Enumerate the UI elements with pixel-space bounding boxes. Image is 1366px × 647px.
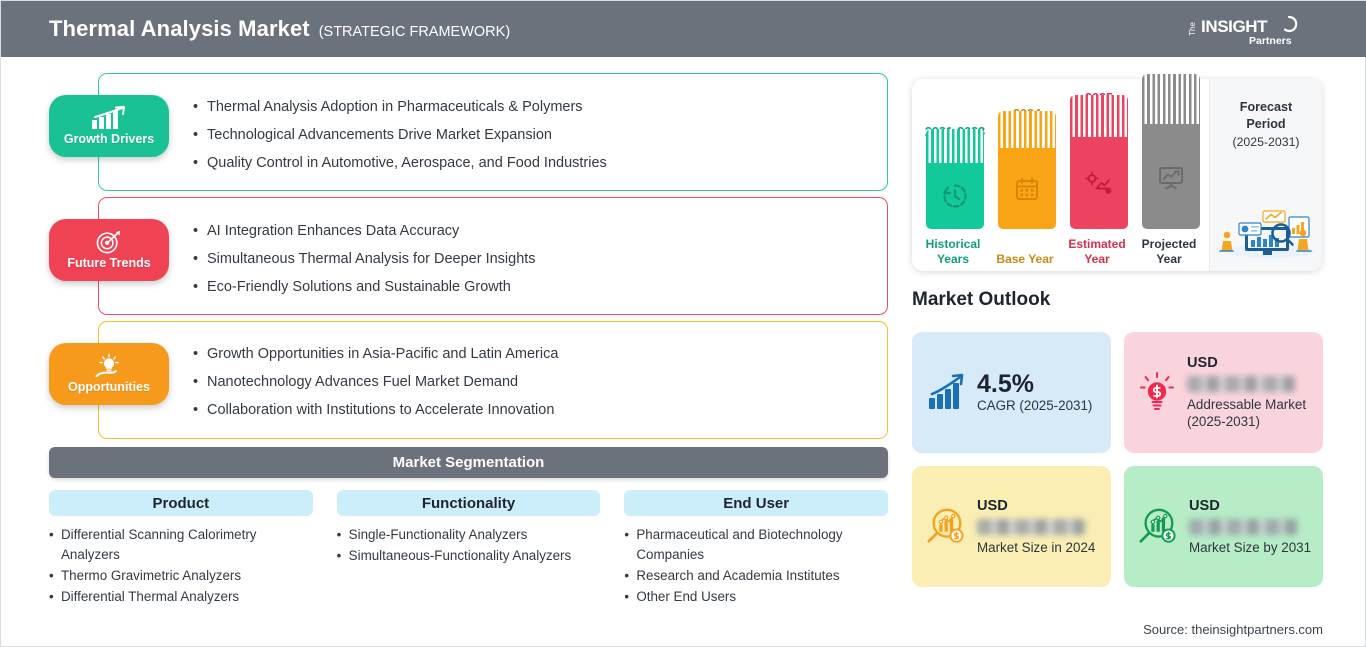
card-caption: Market Size in 2024 bbox=[977, 539, 1101, 556]
list-item: Research and Academia Institutes bbox=[624, 566, 888, 586]
timeline-bar-projected: 2031 Projected Year bbox=[1140, 79, 1202, 271]
badge-opportunities[interactable]: Opportunities bbox=[49, 343, 169, 405]
bullet-item: Eco-Friendly Solutions and Sustainable G… bbox=[193, 273, 883, 301]
bar-stripe-top bbox=[1070, 95, 1128, 137]
presentation-chart-icon bbox=[1157, 164, 1185, 190]
list-item: Simultaneous-Functionality Analyzers bbox=[337, 546, 601, 566]
bar-solid-body bbox=[998, 148, 1056, 229]
list-item: Differential Thermal Analyzers bbox=[49, 587, 313, 607]
timeline-bar-estimated: 2025 bbox=[1068, 79, 1130, 271]
card-caption: Market Size by 2031 bbox=[1189, 539, 1313, 556]
cagr-caption: CAGR (2025-2031) bbox=[977, 397, 1101, 414]
infographic-page: Thermal Analysis Market (STRATEGIC FRAME… bbox=[0, 0, 1366, 647]
redacted-value bbox=[977, 519, 1085, 535]
insight-partners-logo: The INSIGHT Partners bbox=[1189, 10, 1309, 50]
page-subtitle: (STRATEGIC FRAMEWORK) bbox=[319, 24, 510, 40]
badge-future-trends[interactable]: Future Trends bbox=[49, 219, 169, 281]
segment-list: Differential Scanning Calorimetry Analyz… bbox=[49, 525, 313, 607]
forecast-line-2: Period bbox=[1246, 116, 1285, 133]
forecast-line-1: Forecast bbox=[1240, 99, 1293, 116]
bullet-item: Simultaneous Thermal Analysis for Deeper… bbox=[193, 245, 883, 273]
outlook-cards: 4.5% CAGR (2025-2031) USD bbox=[912, 332, 1324, 587]
bar-stripe-top bbox=[926, 129, 984, 163]
segmentation-columns: Product Differential Scanning Calorimetr… bbox=[49, 490, 888, 645]
list-item: Differential Scanning Calorimetry Analyz… bbox=[49, 525, 313, 565]
lightbulb-dollar-icon bbox=[1137, 371, 1177, 415]
bar-caption: Estimated Year bbox=[1062, 237, 1132, 267]
study-year-timeline-chart: 2021-2023 Historical Years bbox=[912, 79, 1322, 271]
redacted-value bbox=[1189, 519, 1297, 535]
bar-solid-body bbox=[1070, 137, 1128, 229]
badge-growth-drivers[interactable]: Growth Drivers bbox=[49, 95, 169, 157]
page-header: Thermal Analysis Market (STRATEGIC FRAME… bbox=[1, 1, 1366, 57]
bar-stripe-top bbox=[1142, 74, 1200, 124]
market-outlook-title: Market Outlook bbox=[912, 289, 1050, 311]
segment-list: Single-Functionality Analyzers Simultane… bbox=[337, 525, 601, 566]
magnifier-chart-dollar-icon bbox=[925, 506, 967, 548]
calendar-icon bbox=[1014, 176, 1040, 202]
bullet-list-growth-drivers: Thermal Analysis Adoption in Pharmaceuti… bbox=[193, 93, 883, 177]
segment-title: Functionality bbox=[337, 490, 601, 516]
bullet-list-opportunities: Growth Opportunities in Asia-Pacific and… bbox=[193, 340, 883, 424]
bar-chart-arrow-up-icon bbox=[925, 372, 967, 414]
lightbulb-hand-icon bbox=[92, 354, 126, 378]
forecast-gear-chart-icon bbox=[1084, 170, 1114, 196]
bar-caption: Historical Years bbox=[918, 237, 988, 267]
list-item: Pharmaceutical and Biotechnology Compani… bbox=[624, 525, 888, 565]
bullet-item: AI Integration Enhances Data Accuracy bbox=[193, 217, 883, 245]
list-item: Single-Functionality Analyzers bbox=[337, 525, 601, 545]
card-text: 4.5% CAGR (2025-2031) bbox=[977, 371, 1101, 414]
outlook-card-cagr[interactable]: 4.5% CAGR (2025-2031) bbox=[912, 332, 1111, 453]
timeline-bars: 2021-2023 Historical Years bbox=[912, 79, 1209, 271]
bar-stripe-top bbox=[998, 111, 1056, 148]
bar-chart-growth-icon bbox=[89, 106, 129, 130]
svg-text:Partners: Partners bbox=[1249, 35, 1292, 47]
card-text: USD Market Size in 2024 bbox=[977, 498, 1101, 556]
bullet-item: Technological Advancements Drive Market … bbox=[193, 121, 883, 149]
magnifier-chart-dollar-icon bbox=[1137, 506, 1179, 548]
outlook-card-addressable-market[interactable]: USD Addressable Market (2025-2031) bbox=[1124, 332, 1323, 453]
segment-column-product: Product Differential Scanning Calorimetr… bbox=[49, 490, 313, 645]
badge-label: Growth Drivers bbox=[64, 132, 154, 146]
card-text: USD Addressable Market (2025-2031) bbox=[1187, 355, 1313, 430]
badge-label: Future Trends bbox=[67, 256, 150, 270]
market-segmentation-label: Market Segmentation bbox=[393, 454, 545, 471]
card-caption: Addressable Market (2025-2031) bbox=[1187, 396, 1313, 430]
history-clock-icon bbox=[941, 182, 969, 210]
target-dart-icon bbox=[93, 230, 125, 254]
left-column: Growth Drivers Future Trends bbox=[1, 57, 901, 647]
segment-list: Pharmaceutical and Biotechnology Compani… bbox=[624, 525, 888, 607]
forecast-range: (2025-2031) bbox=[1233, 135, 1300, 149]
segment-column-functionality: Functionality Single-Functionality Analy… bbox=[337, 490, 601, 645]
bullet-list-future-trends: AI Integration Enhances Data Accuracy Si… bbox=[193, 217, 883, 301]
currency-label: USD bbox=[1187, 355, 1313, 371]
bar-solid-body bbox=[1142, 124, 1200, 229]
outlook-card-market-size-2031[interactable]: USD Market Size by 2031 bbox=[1124, 466, 1323, 587]
svg-text:The: The bbox=[1189, 22, 1197, 36]
segment-title: Product bbox=[49, 490, 313, 516]
currency-label: USD bbox=[977, 498, 1101, 514]
page-title: Thermal Analysis Market bbox=[49, 16, 310, 42]
list-item: Thermo Gravimetric Analyzers bbox=[49, 566, 313, 586]
redacted-value bbox=[1187, 376, 1295, 392]
timeline-bar-base: 2024 bbox=[996, 79, 1058, 271]
segment-column-end-user: End User Pharmaceutical and Biotechnolog… bbox=[624, 490, 888, 645]
bullet-item: Thermal Analysis Adoption in Pharmaceuti… bbox=[193, 93, 883, 121]
bullet-item: Collaboration with Institutions to Accel… bbox=[193, 396, 883, 424]
bullet-item: Growth Opportunities in Asia-Pacific and… bbox=[193, 340, 883, 368]
market-segmentation-header: Market Segmentation bbox=[49, 447, 888, 478]
bar-caption: Base Year bbox=[990, 252, 1060, 267]
currency-label: USD bbox=[1189, 498, 1313, 514]
list-item: Other End Users bbox=[624, 587, 888, 607]
card-text: USD Market Size by 2031 bbox=[1189, 498, 1313, 556]
forecast-period-panel: Forecast Period (2025-2031) bbox=[1209, 79, 1322, 271]
analytics-dashboard-people-icon bbox=[1215, 203, 1319, 259]
bullet-item: Nanotechnology Advances Fuel Market Dema… bbox=[193, 368, 883, 396]
svg-text:INSIGHT: INSIGHT bbox=[1201, 17, 1268, 36]
source-attribution: Source: theinsightpartners.com bbox=[1143, 622, 1323, 637]
badge-label: Opportunities bbox=[68, 380, 150, 394]
bar-solid-body bbox=[926, 163, 984, 229]
outlook-card-market-size-2024[interactable]: USD Market Size in 2024 bbox=[912, 466, 1111, 587]
cagr-value: 4.5% bbox=[977, 371, 1101, 397]
segment-title: End User bbox=[624, 490, 888, 516]
bar-caption: Projected Year bbox=[1134, 237, 1204, 267]
bullet-item: Quality Control in Automotive, Aerospace… bbox=[193, 149, 883, 177]
header-title-wrap: Thermal Analysis Market (STRATEGIC FRAME… bbox=[49, 16, 510, 42]
timeline-bar-historical: 2021-2023 Historical Years bbox=[924, 79, 986, 271]
right-column: 2021-2023 Historical Years bbox=[901, 57, 1366, 647]
